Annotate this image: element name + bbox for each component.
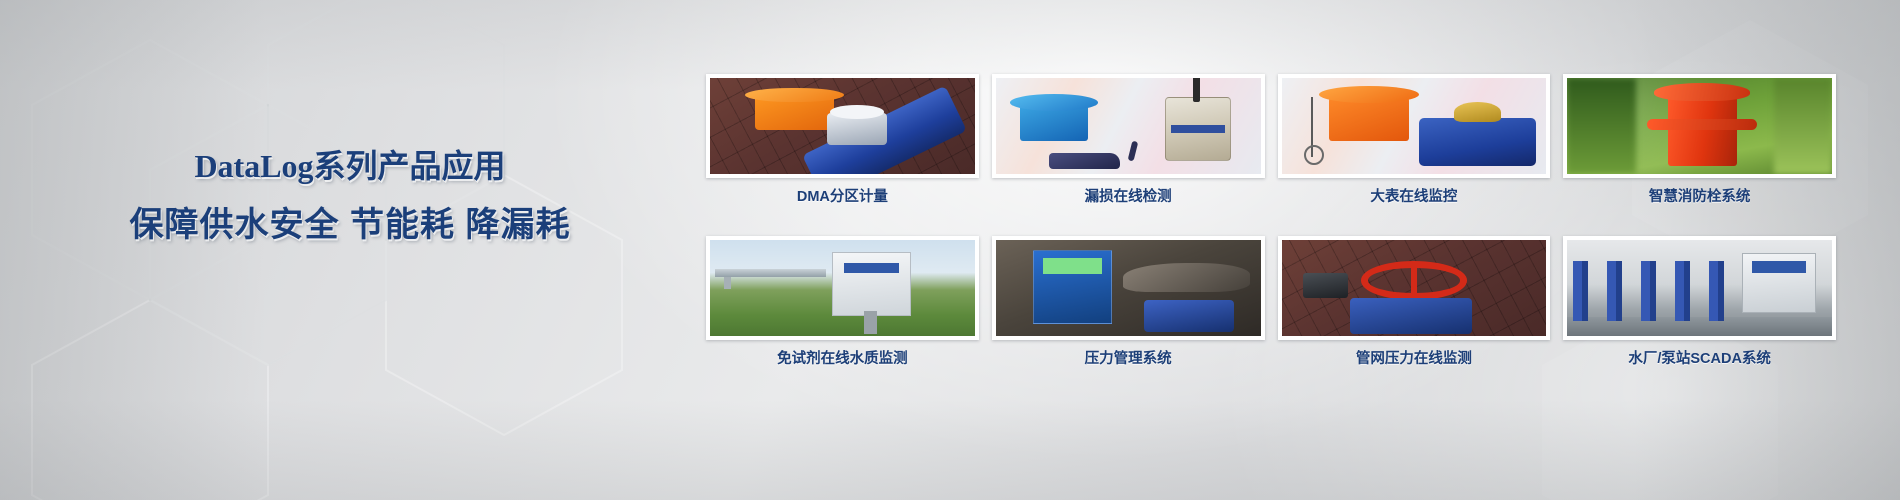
steel-meter-shape: [827, 113, 888, 146]
application-card[interactable]: 大表在线监控: [1278, 74, 1551, 206]
large-meter-monitoring-photo: [1282, 78, 1547, 174]
pressure-management-photo: [996, 240, 1261, 336]
card-thumbnail[interactable]: [1563, 74, 1836, 178]
foliage-right-shape: [1774, 78, 1832, 174]
wireless-dongle-shape: [1049, 153, 1120, 169]
card-thumbnail[interactable]: [706, 74, 979, 178]
card-caption: 漏损在线检测: [992, 188, 1265, 206]
headline-block: DataLog系列产品应用 保障供水安全 节能耗 降漏耗: [0, 146, 700, 247]
application-card[interactable]: 免试剂在线水质监测: [706, 236, 979, 368]
headline-line-1: DataLog系列产品应用: [0, 146, 700, 186]
dma-zone-metering-photo: [710, 78, 975, 174]
card-caption: 智慧消防栓系统: [1563, 188, 1836, 206]
application-card[interactable]: 水厂/泵站SCADA系统: [1563, 236, 1836, 368]
card-thumbnail[interactable]: [706, 236, 979, 340]
data-logger-shape: [1165, 97, 1231, 160]
pump-shape: [1144, 300, 1234, 333]
card-caption: 压力管理系统: [992, 350, 1265, 368]
monitoring-station-cabinet-shape: [832, 252, 911, 315]
foliage-left-shape: [1567, 78, 1636, 174]
bridge-shape: [715, 269, 826, 278]
application-card[interactable]: 管网压力在线监测: [1278, 236, 1551, 368]
control-cabinet-shape: [1033, 250, 1112, 325]
application-card[interactable]: DMA分区计量: [706, 74, 979, 206]
station-post-shape: [864, 311, 877, 334]
waterworks-scada-photo: [1567, 240, 1832, 336]
red-fire-hydrant-shape: [1668, 90, 1737, 167]
card-caption: 管网压力在线监测: [1278, 350, 1551, 368]
orange-chamber-cap-shape: [1329, 91, 1408, 141]
card-caption: 水厂/泵站SCADA系统: [1563, 350, 1836, 368]
antenna-shape: [1311, 97, 1313, 157]
leak-online-detection-photo: [996, 78, 1261, 174]
red-handwheel-shape: [1361, 261, 1467, 299]
application-card[interactable]: 智慧消防栓系统: [1563, 74, 1836, 206]
smart-hydrant-system-photo: [1567, 78, 1832, 174]
application-card[interactable]: 漏损在线检测: [992, 74, 1265, 206]
card-thumbnail[interactable]: [992, 74, 1265, 178]
application-card[interactable]: 压力管理系统: [992, 236, 1265, 368]
card-thumbnail[interactable]: [1278, 236, 1551, 340]
headline-line-2: 保障供水安全 节能耗 降漏耗: [0, 203, 700, 247]
card-caption: 大表在线监控: [1278, 188, 1551, 206]
pump-pipes-shape: [1573, 261, 1742, 321]
pipe-network-pressure-photo: [1282, 240, 1547, 336]
card-caption: 免试剂在线水质监测: [706, 350, 979, 368]
promo-banner: DataLog系列产品应用 保障供水安全 节能耗 降漏耗 DMA分区计量: [0, 0, 1900, 500]
orange-chamber-cap-shape: [755, 91, 834, 129]
hose-coil-shape: [1123, 263, 1250, 292]
blue-chamber-cap-shape: [1020, 99, 1089, 141]
blue-water-meter-shape: [1419, 118, 1535, 166]
blue-valve-body-shape: [1350, 298, 1472, 334]
card-thumbnail[interactable]: [1278, 74, 1551, 178]
reagent-free-water-quality-photo: [710, 240, 975, 336]
card-caption: DMA分区计量: [706, 188, 979, 206]
card-thumbnail[interactable]: [992, 236, 1265, 340]
application-card-grid: DMA分区计量 漏损在线检测 大表在线监控: [706, 74, 1836, 368]
scada-control-panel-shape: [1742, 253, 1816, 313]
card-thumbnail[interactable]: [1563, 236, 1836, 340]
pressure-logger-shape: [1303, 273, 1348, 298]
